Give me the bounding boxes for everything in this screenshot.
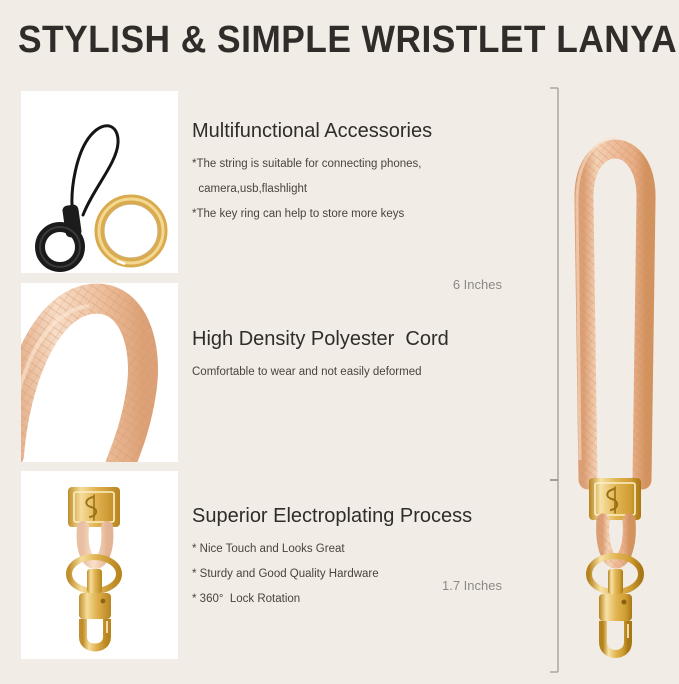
feature-thumbnail-hardware — [21, 471, 178, 659]
wristlet-lanyard-illustration — [556, 80, 679, 679]
feature-block-electroplating: Superior Electroplating Process * Nice T… — [192, 503, 522, 612]
feature-title-accessories: Multifunctional Accessories — [192, 118, 522, 144]
hardware-photo — [21, 471, 178, 659]
feature-line: camera,usb,flashlight — [192, 177, 522, 202]
feature-thumbnail-cord — [21, 283, 178, 462]
feature-block-accessories: Multifunctional Accessories *The string … — [192, 118, 522, 227]
dimension-label-hardware-length: 1.7 Inches — [420, 578, 502, 593]
page-title: STYLISH & SIMPLE WRISTLET LANYARD — [18, 18, 621, 62]
cord-macro-photo — [21, 283, 178, 462]
main-product-image — [556, 80, 679, 679]
feature-line: *The key ring can help to store more key… — [192, 202, 522, 227]
feature-line: Comfortable to wear and not easily defor… — [192, 360, 522, 385]
feature-line: *The string is suitable for connecting p… — [192, 152, 522, 177]
feature-line: * Nice Touch and Looks Great — [192, 537, 522, 562]
infographic-page: STYLISH & SIMPLE WRISTLET LANYARD — [0, 0, 679, 679]
feature-block-cord: High Density Polyester Cord Comfortable … — [192, 326, 522, 385]
accessories-photo — [21, 91, 178, 273]
dimension-label-overall-length: 6 Inches — [430, 277, 502, 292]
feature-title-cord: High Density Polyester Cord — [192, 326, 522, 352]
feature-title-electroplating: Superior Electroplating Process — [192, 503, 522, 529]
feature-thumbnail-accessories — [21, 91, 178, 273]
